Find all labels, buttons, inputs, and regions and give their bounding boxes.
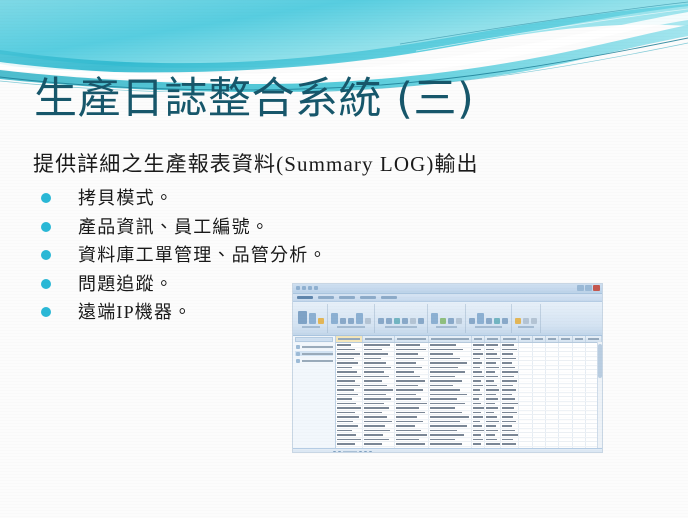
table-cell: [533, 361, 546, 365]
table-cell: [485, 361, 501, 365]
table-cell: [363, 447, 395, 449]
first-record-icon: [333, 451, 336, 453]
table-cell: [546, 420, 559, 424]
table-cell: [559, 411, 572, 415]
table-cell: [472, 366, 485, 370]
table-cell: [336, 352, 363, 356]
ribbon-group-label: [385, 326, 417, 328]
lead-paragraph: 提供詳細之生產報表資料(Summary LOG)輸出: [33, 150, 593, 178]
table-cell: [472, 388, 485, 392]
table-cell: [336, 429, 363, 433]
table-cell: [573, 379, 586, 383]
clear-sort-icon: [410, 318, 416, 324]
table-cell: [533, 402, 546, 406]
table-cell: [573, 366, 586, 370]
restore-icon: [585, 285, 592, 291]
table-cell: [559, 415, 572, 419]
table-cell: [336, 384, 363, 388]
table-cell: [429, 442, 472, 446]
list-item: 拷貝模式。: [33, 184, 593, 212]
table-cell: [336, 424, 363, 428]
table-cell: [472, 402, 485, 406]
table-cell: [546, 438, 559, 442]
selection-icon: [418, 318, 424, 324]
table-cell: [546, 411, 559, 415]
table-cell: [485, 370, 501, 374]
table-cell: [363, 438, 395, 442]
table-cell: [485, 442, 501, 446]
list-item-label: 拷貝模式。: [78, 187, 174, 210]
navigation-pane: [293, 336, 336, 448]
table-cell: [429, 384, 472, 388]
presentation-slide: 生產日誌整合系統 (三) 提供詳細之生產報表資料(Summary LOG)輸出 …: [0, 0, 688, 518]
table-cell: [573, 352, 586, 356]
table-cell: [485, 420, 501, 424]
table-cell: [485, 438, 501, 442]
table-cell: [336, 447, 363, 449]
table-cell: [472, 438, 485, 442]
table-cell: [533, 352, 546, 356]
table-cell: [363, 352, 395, 356]
column-header: [429, 336, 472, 342]
table-cell: [559, 420, 572, 424]
table-cell: [519, 388, 532, 392]
table-cell: [533, 420, 546, 424]
table-cell: [533, 424, 546, 428]
table-cell: [546, 375, 559, 379]
table-cell: [546, 429, 559, 433]
table-cell: [573, 429, 586, 433]
table-cell: [501, 438, 520, 442]
table-cell: [501, 442, 520, 446]
table-cell: [546, 357, 559, 361]
clipboard-icon: [318, 318, 324, 324]
table-cell: [485, 388, 501, 392]
table-cell: [336, 406, 363, 410]
table-cell: [533, 370, 546, 374]
table-cell: [336, 343, 363, 347]
table-cell: [472, 411, 485, 415]
table-cell: [363, 379, 395, 383]
table-cell: [336, 348, 363, 352]
table-cell: [429, 379, 472, 383]
table-cell: [533, 357, 546, 361]
table-cell: [533, 343, 546, 347]
table-cell: [573, 433, 586, 437]
table-cell: [472, 433, 485, 437]
table-cell: [519, 411, 532, 415]
table-cell: [395, 361, 430, 365]
table-cell: [501, 379, 520, 383]
table-cell: [533, 442, 546, 446]
bullet-dot-icon: [41, 250, 51, 260]
table-cell: [395, 420, 430, 424]
sidebar-item-report: [295, 358, 333, 363]
table-cell: [559, 352, 572, 356]
table-cell: [472, 429, 485, 433]
table-cell: [472, 352, 485, 356]
table-cell: [501, 415, 520, 419]
table-cell: [519, 424, 532, 428]
bullet-dot-icon: [41, 222, 51, 232]
table-cell: [485, 379, 501, 383]
table-cell: [559, 357, 572, 361]
table-cell: [395, 433, 430, 437]
table-cell: [485, 433, 501, 437]
ribbon-toolbar: [293, 302, 602, 336]
record-navigator: [293, 448, 602, 453]
table-cell: [533, 415, 546, 419]
table-cell: [573, 402, 586, 406]
table-cell: [336, 388, 363, 392]
table-cell: [395, 438, 430, 442]
tab-home: [297, 296, 313, 299]
table-cell: [429, 348, 472, 352]
table-cell: [485, 447, 501, 449]
table-cell: [546, 384, 559, 388]
scrollbar-thumb: [598, 344, 602, 378]
table-cell: [573, 415, 586, 419]
save-icon: [296, 286, 300, 290]
list-item: 產品資訊、員工編號。: [33, 213, 593, 241]
table-cell: [485, 406, 501, 410]
table-cell: [559, 438, 572, 442]
table-cell: [395, 415, 430, 419]
table-cell: [472, 375, 485, 379]
table-cell: [429, 352, 472, 356]
table-cell: [472, 424, 485, 428]
query-icon: [296, 352, 300, 356]
table-cell: [395, 442, 430, 446]
table-cell: [519, 357, 532, 361]
table-cell: [533, 397, 546, 401]
delete-record-icon: [448, 318, 454, 324]
table-cell: [472, 343, 485, 347]
list-item-label: 問題追蹤。: [78, 273, 174, 296]
table-cell: [485, 411, 501, 415]
table-cell: [395, 357, 430, 361]
table-cell: [485, 343, 501, 347]
table-cell: [573, 442, 586, 446]
table-cell: [429, 357, 472, 361]
new-record-icon: [440, 318, 446, 324]
table-cell: [336, 397, 363, 401]
table-cell: [472, 384, 485, 388]
ribbon-group-records: [428, 304, 466, 333]
table-cell: [395, 370, 430, 374]
table-cell: [559, 393, 572, 397]
table-cell: [336, 370, 363, 374]
table-cell: [546, 433, 559, 437]
table-cell: [533, 384, 546, 388]
table-cell: [501, 357, 520, 361]
table-cell: [546, 424, 559, 428]
table-cell: [501, 411, 520, 415]
table-cell: [363, 370, 395, 374]
format-painter-icon: [348, 318, 354, 324]
table-cell: [336, 420, 363, 424]
table-cell: [363, 406, 395, 410]
goto-icon: [494, 318, 500, 324]
undo-icon: [302, 286, 306, 290]
table-cell: [546, 352, 559, 356]
table-cell: [363, 348, 395, 352]
table-cell: [336, 402, 363, 406]
table-cell: [559, 384, 572, 388]
table-cell: [546, 366, 559, 370]
table-cell: [559, 429, 572, 433]
table-cell: [546, 379, 559, 383]
table-cell: [395, 375, 430, 379]
table-cell: [533, 348, 546, 352]
table-cell: [533, 411, 546, 415]
table-cell: [429, 388, 472, 392]
table-cell: [395, 348, 430, 352]
table-cell: [429, 375, 472, 379]
table-cell: [559, 370, 572, 374]
next-record-icon: [359, 451, 362, 453]
table-cell: [501, 393, 520, 397]
table-cell: [336, 375, 363, 379]
table-cell: [395, 429, 430, 433]
table-cell: [546, 388, 559, 392]
table-cell: [429, 420, 472, 424]
table-cell: [559, 348, 572, 352]
table-cell: [559, 366, 572, 370]
table-cell: [429, 366, 472, 370]
table-cell: [519, 393, 532, 397]
table-cell: [336, 442, 363, 446]
table-cell: [533, 366, 546, 370]
spelling-icon: [469, 318, 475, 324]
view-icon: [298, 311, 307, 324]
table-cell: [519, 366, 532, 370]
table-cell: [429, 397, 472, 401]
table-cell: [472, 397, 485, 401]
tab-external-data: [339, 296, 355, 299]
record-search-field: [374, 452, 384, 454]
table-cell: [472, 442, 485, 446]
table-cell: [533, 388, 546, 392]
data-grid: [336, 336, 602, 448]
table-cell: [573, 397, 586, 401]
table-cell: [363, 366, 395, 370]
redo-icon: [308, 286, 312, 290]
table-cell: [546, 343, 559, 347]
table-cell: [336, 415, 363, 419]
table-cell: [395, 343, 430, 347]
ribbon-group-label: [436, 326, 458, 328]
table-cell: [519, 397, 532, 401]
table-cell: [485, 384, 501, 388]
table-cell: [559, 442, 572, 446]
table-cell: [429, 411, 472, 415]
last-record-icon: [364, 451, 367, 453]
table-cell: [363, 402, 395, 406]
table-cell: [395, 402, 430, 406]
table-cell: [546, 415, 559, 419]
table-cell: [501, 433, 520, 437]
table-cell: [519, 406, 532, 410]
table-cell: [429, 447, 472, 449]
table-cell: [395, 424, 430, 428]
table-cell: [472, 415, 485, 419]
table-cell: [573, 348, 586, 352]
table-cell: [472, 379, 485, 383]
bullet-dot-icon: [41, 279, 51, 289]
table-cell: [519, 343, 532, 347]
table-cell: [336, 438, 363, 442]
vertical-scrollbar: [597, 342, 602, 448]
bullet-dot-icon: [41, 307, 51, 317]
table-cell: [336, 361, 363, 365]
embedded-window-titlebar: [293, 284, 602, 294]
table-cell: [559, 343, 572, 347]
table-cell: [501, 366, 520, 370]
table-cell: [559, 388, 572, 392]
table-cell: [429, 438, 472, 442]
tab-create: [318, 296, 334, 299]
table-cell: [472, 393, 485, 397]
table-cell: [501, 388, 520, 392]
table-cell: [429, 402, 472, 406]
table-cell: [501, 402, 520, 406]
table-cell: [501, 424, 520, 428]
table-cell: [395, 447, 430, 449]
table-cell: [429, 424, 472, 428]
table-cell: [395, 411, 430, 415]
table-cell: [546, 402, 559, 406]
table-cell: [519, 429, 532, 433]
table-cell: [472, 361, 485, 365]
table-cell: [519, 438, 532, 442]
table-cell: [533, 438, 546, 442]
column-header: [472, 336, 485, 342]
table-cell: [573, 393, 586, 397]
table-cell: [429, 393, 472, 397]
table-cell: [519, 348, 532, 352]
find-icon: [477, 313, 484, 324]
table-cell: [395, 393, 430, 397]
table-cell: [501, 361, 520, 365]
sidebar-item-table: [295, 344, 333, 349]
table-cell: [429, 361, 472, 365]
column-header: [533, 336, 546, 342]
table-cell: [363, 442, 395, 446]
table-cell: [559, 424, 572, 428]
table-cell: [546, 370, 559, 374]
table-cell: [519, 433, 532, 437]
new-record-icon: [369, 451, 372, 453]
descending-icon: [386, 318, 392, 324]
table-cell: [573, 411, 586, 415]
quick-access-toolbar: [296, 286, 318, 290]
table-cell: [485, 393, 501, 397]
table-cell: [546, 447, 559, 449]
table-cell: [395, 406, 430, 410]
table-cell: [501, 384, 520, 388]
table-cell: [363, 361, 395, 365]
table-row: [336, 447, 602, 449]
table-cell: [533, 433, 546, 437]
ribbon-group-label: [475, 326, 502, 328]
table-cell: [559, 406, 572, 410]
embedded-screenshot-image: [292, 283, 603, 453]
table-cell: [363, 420, 395, 424]
bold-icon: [523, 318, 529, 324]
table-cell: [501, 420, 520, 424]
table-cell: [336, 366, 363, 370]
table-cell: [519, 384, 532, 388]
table-cell: [546, 442, 559, 446]
minimize-icon: [577, 285, 584, 291]
column-header: [485, 336, 501, 342]
embedded-window-body: [293, 336, 602, 448]
sidebar-item-label: [302, 360, 333, 362]
italic-icon: [531, 318, 537, 324]
ribbon-group-label: [302, 326, 320, 328]
table-cell: [501, 447, 520, 449]
table-cell: [429, 429, 472, 433]
ribbon-group-views: [295, 304, 328, 333]
list-item-label: 產品資訊、員工編號。: [78, 216, 270, 239]
table-cell: [336, 411, 363, 415]
table-cell: [533, 375, 546, 379]
table-cell: [559, 379, 572, 383]
navigation-pane-header: [295, 337, 333, 342]
table-cell: [573, 361, 586, 365]
previous-record-icon: [338, 451, 341, 453]
table-cell: [573, 424, 586, 428]
ascending-icon: [378, 318, 384, 324]
table-cell: [519, 375, 532, 379]
table-cell: [429, 370, 472, 374]
table-cell: [363, 343, 395, 347]
table-cell: [546, 397, 559, 401]
sort-icon: [365, 318, 371, 324]
table-icon: [296, 345, 300, 349]
column-header: [336, 336, 363, 342]
ribbon-group-text-format: [512, 304, 541, 333]
table-cell: [546, 361, 559, 365]
table-cell: [573, 370, 586, 374]
table-cell: [472, 447, 485, 449]
sidebar-item-label: [302, 346, 333, 348]
table-cell: [519, 447, 532, 449]
table-cell: [519, 352, 532, 356]
table-cell: [559, 433, 572, 437]
data-grid-rows: [336, 343, 602, 448]
column-header: [546, 336, 559, 342]
table-cell: [559, 402, 572, 406]
table-cell: [546, 393, 559, 397]
table-cell: [363, 375, 395, 379]
table-cell: [485, 429, 501, 433]
table-cell: [472, 357, 485, 361]
table-cell: [485, 375, 501, 379]
bullet-dot-icon: [41, 193, 51, 203]
table-cell: [519, 402, 532, 406]
table-cell: [336, 433, 363, 437]
select-all-icon: [502, 318, 508, 324]
table-cell: [533, 406, 546, 410]
table-cell: [573, 438, 586, 442]
table-cell: [559, 375, 572, 379]
paste-icon: [309, 313, 316, 324]
table-cell: [573, 420, 586, 424]
table-cell: [363, 411, 395, 415]
table-cell: [336, 379, 363, 383]
